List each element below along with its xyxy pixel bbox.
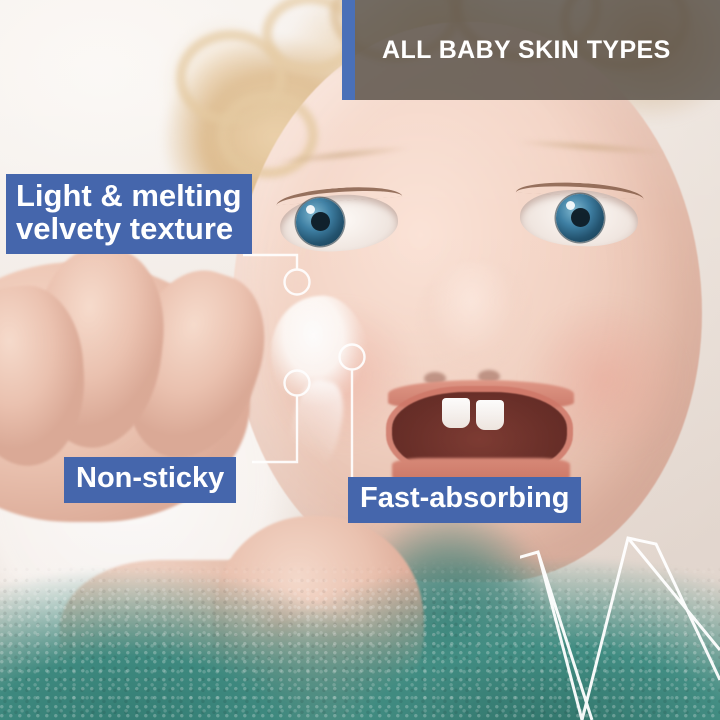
- header-banner-accent-bar: [342, 0, 355, 100]
- header-banner: ALL BABY SKIN TYPES: [342, 0, 720, 100]
- eye-highlight: [566, 201, 575, 210]
- tooth: [476, 400, 504, 430]
- pupil-right: [571, 208, 590, 227]
- callout-label-non-sticky: Non-sticky: [64, 457, 236, 503]
- hair-curl: [218, 92, 318, 178]
- towel-texture: [0, 560, 720, 720]
- callout-label-texture: Light & melting velvety texture: [6, 174, 252, 254]
- eye-highlight: [306, 205, 315, 214]
- tooth: [442, 398, 470, 428]
- callout-label-fast-absorbing: Fast-absorbing: [348, 477, 581, 523]
- product-photograph: [0, 0, 720, 720]
- promo-image: ALL BABY SKIN TYPES Light & melting velv…: [0, 0, 720, 720]
- header-banner-title: ALL BABY SKIN TYPES: [382, 36, 671, 65]
- pupil-left: [311, 212, 330, 231]
